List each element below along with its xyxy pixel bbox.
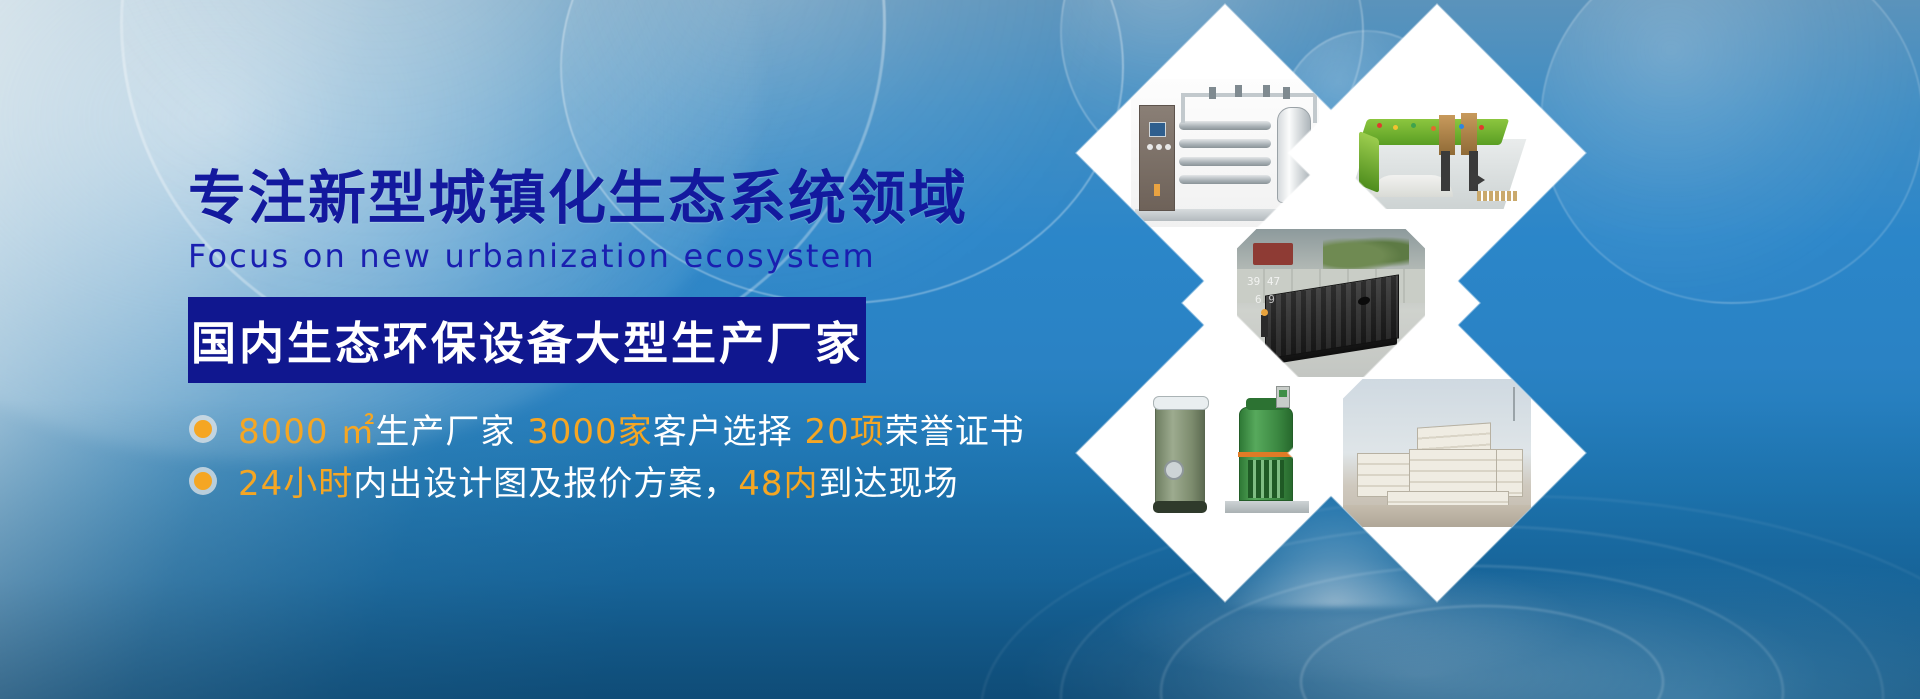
- list-item: 8000 ㎡生产厂家 3000家客户选择 20项荣誉证书: [188, 403, 948, 455]
- banner-copy: 专注新型城镇化生态系统领域 Focus on new urbanization …: [188, 168, 948, 507]
- tagline-box: 国内生态环保设备大型生产厂家: [188, 297, 866, 383]
- tagline-text: 国内生态环保设备大型生产厂家: [191, 307, 863, 372]
- list-item: 24小时内出设计图及报价方案，48内到达现场: [188, 455, 948, 507]
- page-title: 专注新型城镇化生态系统领域: [188, 168, 948, 229]
- feature-text-1: 8000 ㎡生产厂家 3000家客户选择 20项荣誉证书: [238, 404, 1025, 453]
- bullet-dot-icon: [194, 420, 212, 438]
- bullet-dot-icon: [194, 472, 212, 490]
- feature-list: 8000 ㎡生产厂家 3000家客户选择 20项荣誉证书 24小时内出设计图及报…: [188, 403, 948, 507]
- product-gallery: 39 47 6 9: [1120, 48, 1640, 608]
- hero-banner: 专注新型城镇化生态系统领域 Focus on new urbanization …: [0, 0, 1920, 699]
- feature-text-2: 24小时内出设计图及报价方案，48内到达现场: [238, 456, 959, 505]
- aac-wall-panels-image: [1343, 379, 1531, 527]
- page-subtitle: Focus on new urbanization ecosystem: [188, 237, 948, 275]
